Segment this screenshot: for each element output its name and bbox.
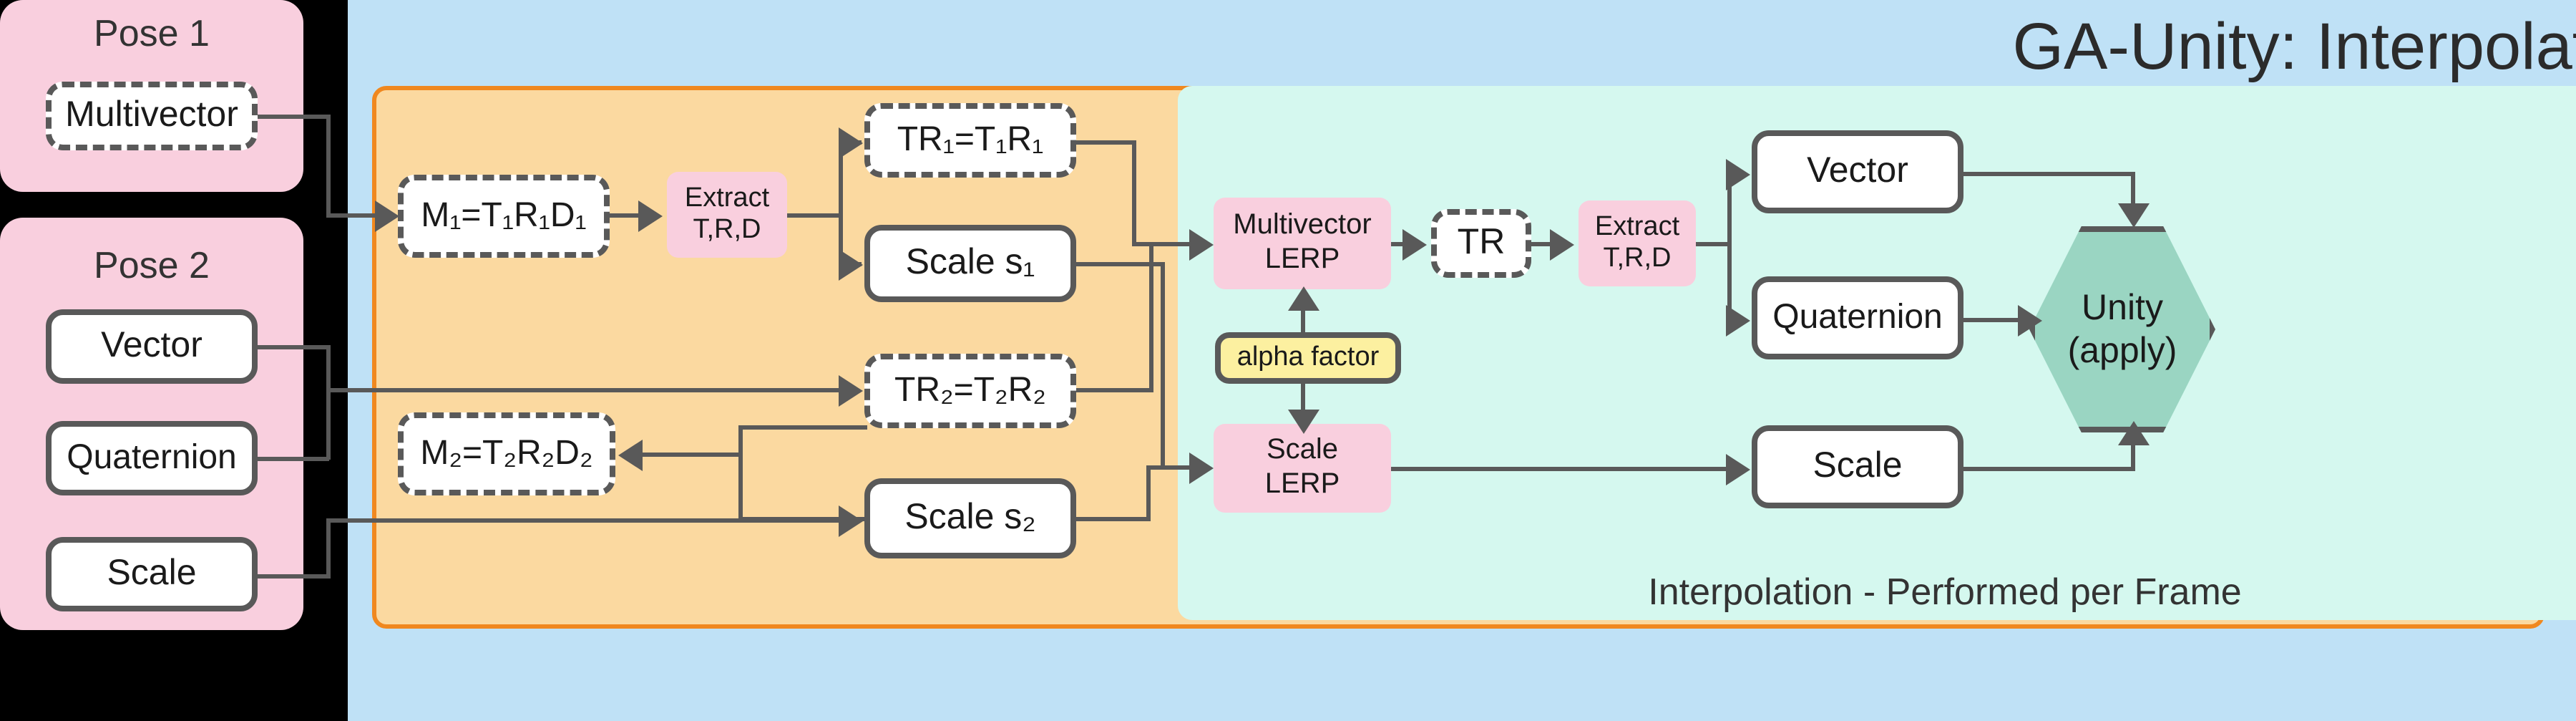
arrow-into-scalelerp <box>1189 453 1214 484</box>
arrow-into-extract1 <box>638 200 663 232</box>
scale-lerp-node[interactable]: Scale LERP <box>1214 424 1391 513</box>
arrow-into-scale-s2 <box>839 505 863 537</box>
interpolation-region-label: Interpolation - Performed per Frame <box>1178 570 2576 614</box>
preprocess-scale-s2-label: Scale s₂ <box>904 498 1035 540</box>
interpolation-extract-node[interactable]: Extract T,R,D <box>1579 200 1696 286</box>
interpolation-scale-label: Scale <box>1813 446 1902 488</box>
arrow-into-m1 <box>375 200 399 232</box>
wire-vector-out <box>258 345 329 349</box>
arrow-into-scale-s1 <box>839 249 863 281</box>
wire-extract-out <box>787 213 841 218</box>
arrow-into-tr1 <box>839 127 863 159</box>
arrow-into-scale <box>1726 454 1750 485</box>
wire-s2-to-merge <box>738 517 867 521</box>
wire-quaternion-to-unity <box>1963 318 2024 322</box>
arrow-into-quaternion <box>1726 305 1750 337</box>
arrow-alpha-to-scalelerp <box>1288 410 1319 434</box>
arrow-into-extract2 <box>1550 229 1574 261</box>
alpha-factor-node[interactable]: alpha factor <box>1215 332 1401 384</box>
wire-scales2-to-scalelerp <box>1146 465 1192 470</box>
preprocess-scale-s2-node[interactable]: Scale s₂ <box>864 478 1076 558</box>
diagram-canvas: GA-Unity: Interpolation between poses Po… <box>0 0 2576 721</box>
preprocess-extract-line2: T,R,D <box>693 215 761 247</box>
arrow-into-vector <box>1726 159 1750 190</box>
multivector-lerp-node[interactable]: Multivector LERP <box>1214 198 1391 289</box>
pose2-title: Pose 2 <box>0 243 303 288</box>
arrow-into-m2 <box>618 440 643 471</box>
wire-pose2scale-out <box>258 574 329 579</box>
interpolation-tr-label: TR <box>1458 223 1506 265</box>
preprocess-tr1-label: TR₁=T₁R₁ <box>897 120 1044 161</box>
wire-scale-unity-up <box>2131 441 2135 470</box>
scale-lerp-line1: Scale <box>1267 435 1338 468</box>
wire-m1-extract <box>610 213 641 218</box>
wire-mv-to-m1 <box>326 213 381 218</box>
interpolation-extract-line2: T,R,D <box>1604 243 1672 276</box>
interpolation-tr-node[interactable]: TR <box>1431 209 1531 278</box>
wire-scales1-down <box>1161 262 1165 468</box>
wire-quaternion-out <box>258 457 329 461</box>
arrow-scale-into-unity <box>2118 421 2150 445</box>
preprocess-tr2-node[interactable]: TR₂=T₂R₂ <box>864 354 1076 428</box>
pose1-multivector-node[interactable]: Multivector <box>46 82 258 150</box>
interpolation-extract-line1: Extract <box>1595 211 1679 243</box>
pose1-title: Pose 1 <box>0 11 303 56</box>
wire-extract2-split <box>1727 172 1732 318</box>
arrow-quaternion-into-unity <box>2018 305 2042 337</box>
wire-mv-out <box>258 115 329 119</box>
interpolation-vector-node[interactable]: Vector <box>1752 130 1963 213</box>
wire-extract-split <box>839 140 843 265</box>
wire-tr2-to-merge <box>738 425 867 430</box>
wire-vector-unity-down <box>2131 172 2135 208</box>
interpolation-quaternion-node[interactable]: Quaternion <box>1752 276 1963 359</box>
page-title: GA-Unity: Interpolation between poses <box>859 7 2576 84</box>
wire-tr1-out <box>1076 140 1136 145</box>
interpolation-vector-label: Vector <box>1807 151 1908 193</box>
wire-vector-down <box>326 345 331 460</box>
wire-tr2-out <box>1076 388 1153 392</box>
unity-apply-line2: (apply) <box>2068 329 2177 372</box>
arrow-into-tr <box>1402 229 1427 261</box>
arrow-alpha-to-mvlerp <box>1288 286 1319 311</box>
wire-scale-to-unity <box>1963 467 2135 471</box>
interpolation-scale-node[interactable]: Scale <box>1752 425 1963 508</box>
preprocess-m1-node[interactable]: M₁=T₁R₁D₁ <box>398 175 610 258</box>
preprocess-extract-line1: Extract <box>685 183 769 215</box>
preprocess-extract-node[interactable]: Extract T,R,D <box>667 172 787 258</box>
wire-scalelerp-to-scale <box>1391 467 1729 471</box>
wire-extract2-out <box>1696 242 1730 246</box>
pose2-vector-node[interactable]: Vector <box>46 309 258 384</box>
wire-scales2-out <box>1076 517 1151 521</box>
wire-m2-merge-vert <box>738 425 743 520</box>
wire-merge-to-m2 <box>641 453 741 457</box>
wire-mv-down <box>326 115 331 216</box>
interpolation-quaternion-label: Quaternion <box>1772 298 1943 339</box>
wire-scales1-out <box>1076 262 1165 266</box>
wire-to-tr2 <box>326 388 841 392</box>
alpha-factor-label: alpha factor <box>1237 342 1380 374</box>
scale-lerp-line2: LERP <box>1265 468 1340 502</box>
arrow-into-tr2 <box>839 375 863 407</box>
preprocess-scale-s1-label: Scale s₁ <box>906 243 1035 285</box>
preprocess-m2-label: M₂=T₂R₂D₂ <box>420 434 592 475</box>
pose2-quaternion-node[interactable]: Quaternion <box>46 421 258 495</box>
preprocess-m2-node[interactable]: M₂=T₂R₂D₂ <box>398 412 615 495</box>
preprocess-m1-label: M₁=T₁R₁D₁ <box>421 196 586 237</box>
wire-vector-to-unity <box>1963 172 2135 176</box>
preprocess-tr2-label: TR₂=T₂R₂ <box>894 371 1046 412</box>
wire-pose2scale-up <box>326 518 331 579</box>
unity-apply-line1: Unity <box>2082 286 2163 329</box>
preprocess-tr1-node[interactable]: TR₁=T₁R₁ <box>864 103 1076 178</box>
arrow-vector-into-unity <box>2118 203 2150 228</box>
pose2-scale-node[interactable]: Scale <box>46 537 258 611</box>
wire-tr2-to-mvlerp <box>1149 242 1192 246</box>
preprocess-scale-s1-node[interactable]: Scale s₁ <box>864 225 1076 302</box>
arrow-into-mvlerp-1 <box>1189 229 1214 261</box>
multivector-lerp-line2: LERP <box>1265 243 1340 277</box>
wire-tr1-down <box>1132 140 1136 245</box>
multivector-lerp-line1: Multivector <box>1233 210 1371 243</box>
wire-scales2-up <box>1146 465 1151 521</box>
